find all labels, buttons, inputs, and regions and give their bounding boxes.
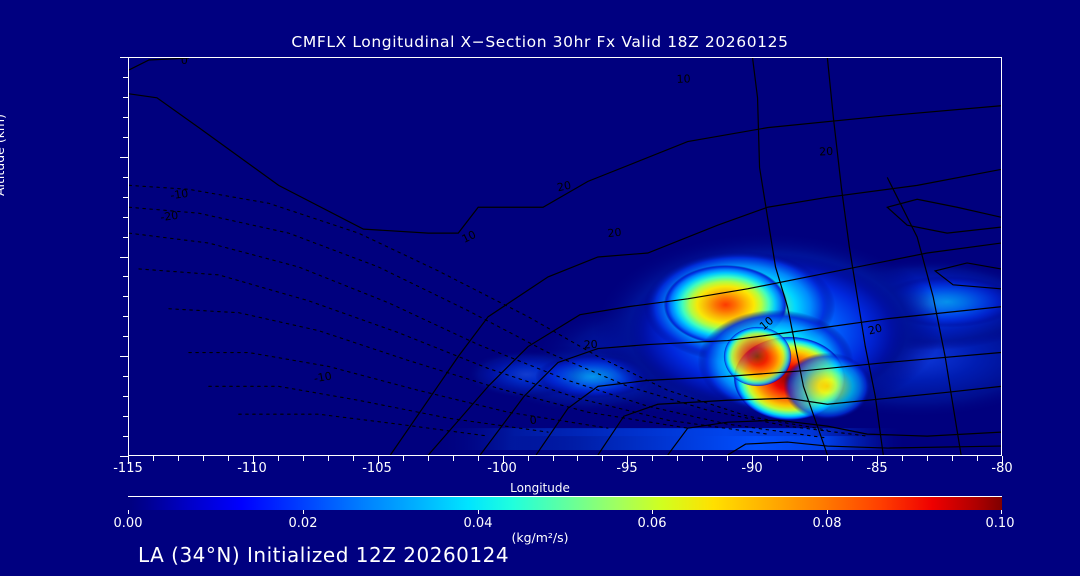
colorbar — [128, 496, 1002, 510]
x-minor-tick — [453, 456, 454, 461]
x-minor-tick — [303, 456, 304, 461]
y-minor-tick — [123, 237, 128, 238]
x-minor-tick — [328, 456, 329, 461]
x-major-tick — [128, 456, 129, 464]
x-minor-tick — [902, 456, 903, 461]
colorbar-tick-1: 0.02 — [289, 516, 318, 531]
colorbar-tick-mark — [827, 510, 828, 514]
x-minor-tick — [478, 456, 479, 461]
figure-canvas: CMFLX Longitudinal X−Section 30hr Fx Val… — [0, 0, 1080, 576]
colorbar-tick-4: 0.08 — [813, 516, 842, 531]
x-minor-tick — [702, 456, 703, 461]
x-axis-label: Longitude — [0, 481, 1080, 495]
svg-text:10: 10 — [676, 72, 690, 85]
y-minor-tick — [123, 217, 128, 218]
y-major-tick — [120, 257, 128, 258]
plot-area: 0 10 20 10 20 20 10 20 20 0 -10 -20 -10 — [128, 57, 1002, 456]
x-minor-tick — [977, 456, 978, 461]
x-tick-105: -105 — [362, 461, 392, 476]
svg-text:20: 20 — [819, 145, 834, 159]
colorbar-gradient — [128, 496, 1002, 510]
x-minor-tick — [178, 456, 179, 461]
x-minor-tick — [852, 456, 853, 461]
colorbar-tick-2: 0.04 — [464, 516, 493, 531]
svg-text:0: 0 — [181, 58, 188, 67]
x-minor-tick — [403, 456, 404, 461]
x-minor-tick — [428, 456, 429, 461]
colorbar-tick-5: 0.10 — [986, 516, 1015, 531]
svg-text:20: 20 — [583, 338, 598, 352]
colorbar-tick-mark — [303, 510, 304, 514]
y-axis-label: Altitude (km) — [0, 114, 7, 196]
x-major-tick — [253, 456, 254, 464]
x-minor-tick — [727, 456, 728, 461]
y-minor-tick — [123, 296, 128, 297]
x-major-tick — [752, 456, 753, 464]
y-minor-tick — [123, 336, 128, 337]
x-minor-tick — [203, 456, 204, 461]
svg-text:-20: -20 — [160, 209, 180, 224]
figure-caption: LA (34°N) Initialized 12Z 20260124 — [138, 543, 509, 567]
y-minor-tick — [123, 276, 128, 277]
x-minor-tick — [802, 456, 803, 461]
y-minor-tick — [123, 177, 128, 178]
x-minor-tick — [827, 456, 828, 461]
cross-section-field: 0 10 20 10 20 20 10 20 20 0 -10 -20 -10 — [129, 58, 1001, 455]
x-minor-tick — [153, 456, 154, 461]
chart-title: CMFLX Longitudinal X−Section 30hr Fx Val… — [0, 33, 1080, 51]
x-tick-110: -110 — [237, 461, 267, 476]
y-minor-tick — [123, 376, 128, 377]
y-major-tick — [120, 356, 128, 357]
x-minor-tick — [353, 456, 354, 461]
colorbar-tick-mark — [652, 510, 653, 514]
x-minor-tick — [952, 456, 953, 461]
colorbar-tick-mark — [128, 510, 129, 514]
colorbar-tick-mark — [1001, 510, 1002, 514]
x-minor-tick — [677, 456, 678, 461]
x-minor-tick — [777, 456, 778, 461]
svg-text:-10: -10 — [170, 187, 190, 202]
x-minor-tick — [553, 456, 554, 461]
x-major-tick — [627, 456, 628, 464]
x-minor-tick — [652, 456, 653, 461]
y-major-tick — [120, 57, 128, 58]
y-minor-tick — [123, 197, 128, 198]
y-minor-tick — [123, 396, 128, 397]
x-major-tick — [378, 456, 379, 464]
y-major-tick — [120, 456, 128, 457]
x-minor-tick — [228, 456, 229, 461]
colorbar-tick-0: 0.00 — [114, 516, 143, 531]
x-minor-tick — [278, 456, 279, 461]
x-minor-tick — [602, 456, 603, 461]
y-minor-tick — [123, 77, 128, 78]
x-tick-100: -100 — [487, 461, 517, 476]
y-minor-tick — [123, 97, 128, 98]
colorbar-tick-mark — [478, 510, 479, 514]
x-major-tick — [1002, 456, 1003, 464]
y-major-tick — [120, 157, 128, 158]
svg-text:20: 20 — [607, 226, 622, 240]
y-minor-tick — [123, 416, 128, 417]
x-minor-tick — [927, 456, 928, 461]
x-major-tick — [503, 456, 504, 464]
x-minor-tick — [577, 456, 578, 461]
y-minor-tick — [123, 137, 128, 138]
x-major-tick — [877, 456, 878, 464]
svg-text:0: 0 — [529, 413, 537, 427]
x-minor-tick — [528, 456, 529, 461]
y-minor-tick — [123, 436, 128, 437]
y-minor-tick — [123, 316, 128, 317]
colorbar-tick-3: 0.06 — [638, 516, 667, 531]
y-minor-tick — [123, 117, 128, 118]
